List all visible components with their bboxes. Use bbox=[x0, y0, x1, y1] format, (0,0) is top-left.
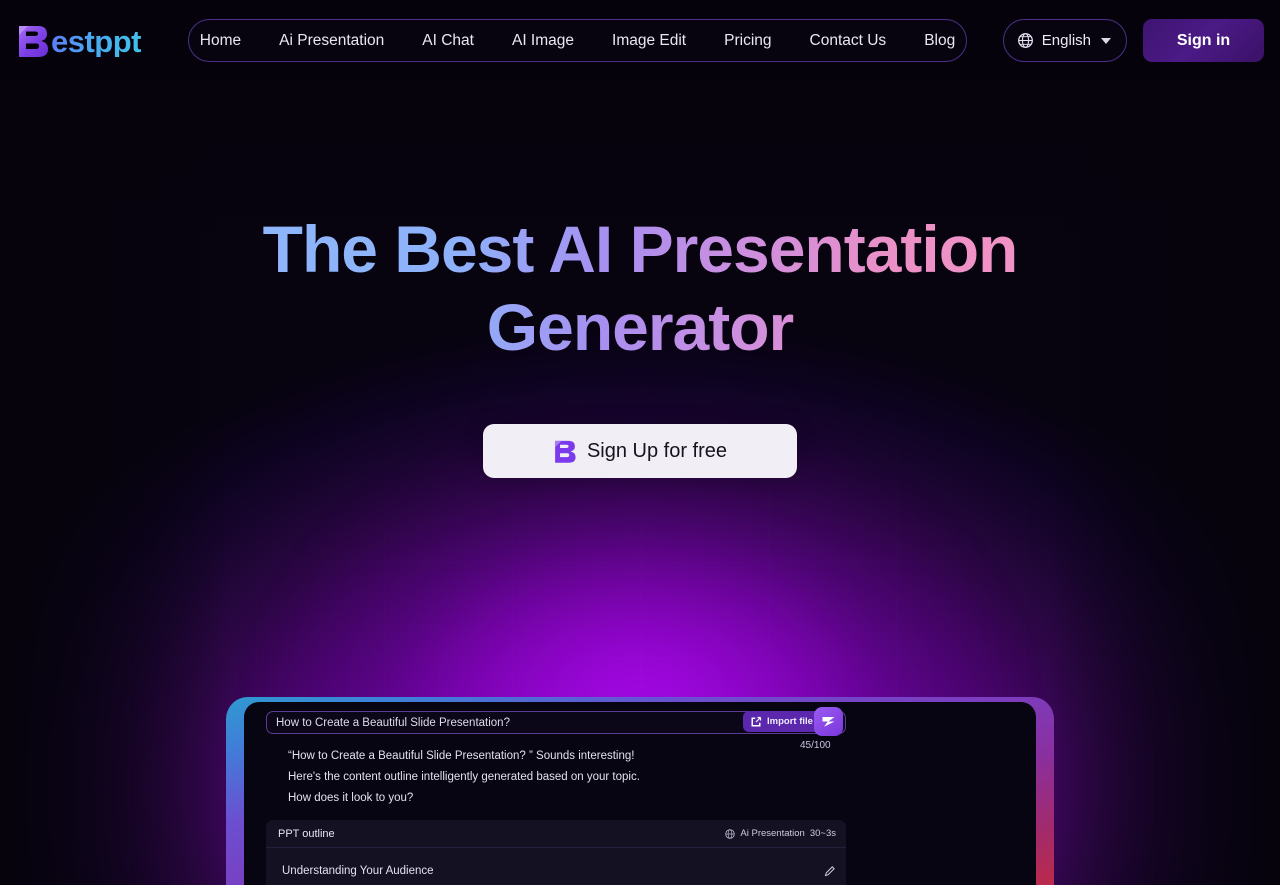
send-plane-icon bbox=[821, 714, 836, 729]
sign-up-free-button[interactable]: Sign Up for free bbox=[483, 424, 797, 478]
send-button[interactable] bbox=[814, 707, 843, 736]
outline-row-label: Understanding Your Audience bbox=[282, 865, 434, 877]
page-title: The Best AI Presentation Generator bbox=[250, 210, 1030, 366]
chat-message: Here's the content outline intelligently… bbox=[288, 771, 640, 783]
bestppt-logo-icon bbox=[553, 438, 577, 465]
nav-item-contact-us[interactable]: Contact Us bbox=[791, 19, 906, 62]
nav-item-ai-image[interactable]: AI Image bbox=[493, 19, 593, 62]
nav-item-blog[interactable]: Blog bbox=[905, 19, 974, 62]
import-file-icon bbox=[750, 716, 762, 728]
nav-item-home[interactable]: Home bbox=[181, 19, 260, 62]
chat-message: “How to Create a Beautiful Slide Present… bbox=[288, 750, 634, 762]
import-file-button[interactable]: Import file bbox=[743, 711, 822, 732]
nav-item-ai-chat[interactable]: AI Chat bbox=[403, 19, 493, 62]
ppt-outline-title: PPT outline bbox=[278, 828, 335, 840]
product-mockup: How to Create a Beautiful Slide Presenta… bbox=[226, 697, 1054, 885]
brand-logo[interactable]: estppt bbox=[16, 18, 141, 64]
character-counter: 45/100 bbox=[800, 740, 831, 751]
ai-presentation-badge-time: 30~3s bbox=[810, 828, 836, 839]
chat-message: How does it look to you? bbox=[288, 792, 413, 804]
nav-item-image-edit[interactable]: Image Edit bbox=[593, 19, 705, 62]
page-root: estppt Home Ai Presentation AI Chat AI I… bbox=[0, 0, 1280, 885]
bestppt-logo-icon bbox=[16, 22, 50, 60]
ai-sphere-icon bbox=[725, 829, 735, 839]
language-label: English bbox=[1042, 32, 1091, 49]
chevron-down-icon bbox=[1101, 38, 1111, 44]
ai-presentation-badge-label: Ai Presentation bbox=[740, 828, 804, 839]
main-navigation: Home Ai Presentation AI Chat AI Image Im… bbox=[188, 19, 967, 62]
ai-presentation-badge: Ai Presentation 30~3s bbox=[725, 828, 836, 839]
pencil-icon[interactable] bbox=[824, 865, 836, 877]
language-selector[interactable]: English bbox=[1003, 19, 1127, 62]
hero-section: The Best AI Presentation Generator bbox=[0, 210, 1280, 366]
site-header: estppt Home Ai Presentation AI Chat AI I… bbox=[0, 0, 1280, 82]
ppt-outline-panel: PPT outline Ai Presentation 30~3s Unders… bbox=[266, 820, 846, 885]
sign-in-button[interactable]: Sign in bbox=[1143, 19, 1264, 62]
ppt-outline-header: PPT outline Ai Presentation 30~3s bbox=[266, 820, 846, 848]
nav-item-ai-presentation[interactable]: Ai Presentation bbox=[260, 19, 403, 62]
sign-up-free-label: Sign Up for free bbox=[587, 440, 727, 463]
import-file-label: Import file bbox=[767, 716, 813, 727]
nav-item-pricing[interactable]: Pricing bbox=[705, 19, 790, 62]
laptop-screen: How to Create a Beautiful Slide Presenta… bbox=[244, 702, 1036, 885]
globe-icon bbox=[1017, 32, 1034, 49]
brand-name: estppt bbox=[51, 26, 141, 57]
outline-row[interactable]: Understanding Your Audience bbox=[266, 856, 846, 885]
prompt-input-value: How to Create a Beautiful Slide Presenta… bbox=[276, 717, 510, 729]
